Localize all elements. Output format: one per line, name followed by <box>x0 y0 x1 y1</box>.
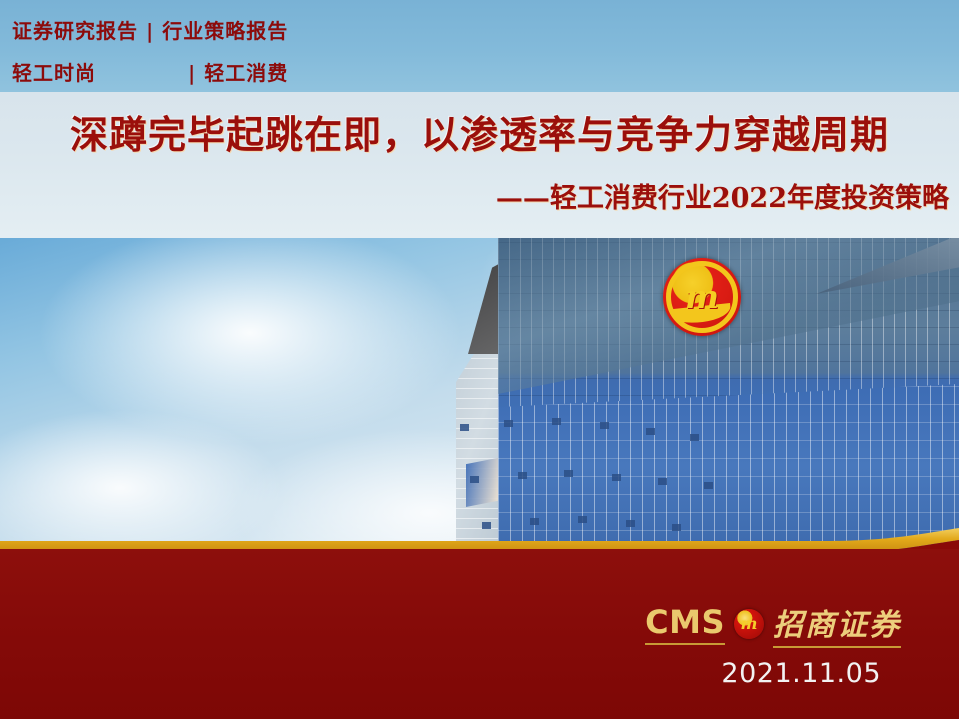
header-sector-line: 轻工时尚| 轻工消费 <box>12 57 288 86</box>
header-band: 证券研究报告 | 行业策略报告 轻工时尚| 轻工消费 <box>0 0 959 92</box>
header-report-type: 证券研究报告 | 行业策略报告 <box>12 15 288 44</box>
page-title: 深蹲完毕起跳在即，以渗透率与竞争力穿越周期 <box>0 104 959 159</box>
cms-building-emblem-icon: m <box>663 258 741 336</box>
cover-photo <box>0 238 959 549</box>
cms-logo-badge-mark: m <box>734 609 764 639</box>
cms-logo: CMS m 招商证券 <box>645 600 901 648</box>
publish-date: 2021.11.05 <box>721 658 881 689</box>
cms-logo-chinese: 招商证券 <box>773 600 901 648</box>
title-panel: 深蹲完毕起跳在即，以渗透率与竞争力穿越周期 ——轻工消费行业2022年度投资策略 <box>0 92 959 238</box>
header-sector-right: | 轻工消费 <box>188 61 288 85</box>
report-cover-page: 证券研究报告 | 行业策略报告 轻工时尚| 轻工消费 深蹲完毕起跳在即，以渗透率… <box>0 0 959 719</box>
emblem-mark: m <box>677 276 727 318</box>
page-subtitle: ——轻工消费行业2022年度投资策略 <box>496 176 949 215</box>
header-sector-left: 轻工时尚 <box>12 61 96 85</box>
cms-logo-badge-icon: m <box>734 609 764 639</box>
cms-logo-latin: CMS <box>645 603 725 645</box>
